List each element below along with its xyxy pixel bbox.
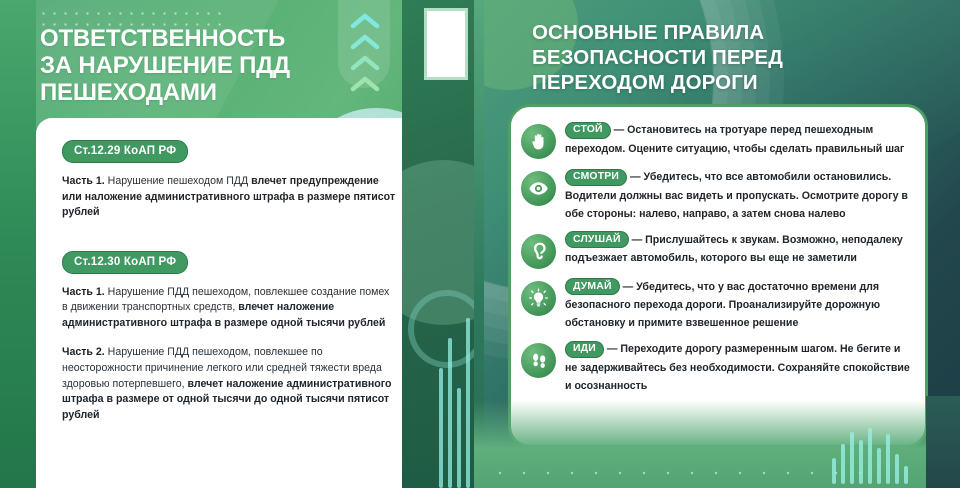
white-notch-decoration [424,8,468,80]
rule-item: СТОЙ — Остановитесь на тротуаре перед пе… [521,119,911,159]
ear-glyph [529,241,549,261]
left-title-line-3: ПЕШЕХОДАМИ [40,80,340,107]
article-block-2: Ст.12.30 КоАП РФ Часть 1. Нарушение ПДД … [62,251,396,424]
left-panel-title: ОТВЕТСТВЕННОСТЬ ЗА НАРУШЕНИЕ ПДД ПЕШЕХОД… [40,26,340,107]
vertical-bars-decoration [439,318,470,488]
rule-paragraph: СТОЙ — Остановитесь на тротуаре перед пе… [565,120,911,157]
part-label: Часть 2. [62,346,105,358]
left-panel: ОТВЕТСТВЕННОСТЬ ЗА НАРУШЕНИЕ ПДД ПЕШЕХОД… [0,0,474,488]
rule-keyword-badge: СТОЙ [565,122,611,139]
rule-description: — Переходите дорогу размеренным шагом. Н… [565,343,910,392]
left-content-card: Ст.12.29 КоАП РФ Часть 1. Нарушение пеше… [36,118,422,488]
rule-item: СМОТРИ — Убедитесь, что все автомобили о… [521,166,911,222]
article-2-paragraph-1: Часть 1. Нарушение ПДД пешеходом, повлек… [62,285,396,332]
eye-icon [521,171,556,206]
rule-paragraph: ИДИ — Переходите дорогу размеренным шаго… [565,339,911,394]
rule-item: СЛУШАЙ — Прислушайтесь к звукам. Возможн… [521,229,911,269]
part-normal-text: Нарушение пешеходом ПДД [105,175,251,187]
rule-body: СТОЙ — Остановитесь на тротуаре перед пе… [565,119,911,157]
rule-description: — Остановитесь на тротуаре перед пешеход… [565,124,904,155]
rule-item: ИДИ — Переходите дорогу размеренным шаго… [521,338,911,394]
chevron-up-icon [350,54,380,72]
chevron-up-icon [350,75,380,93]
rule-body: СЛУШАЙ — Прислушайтесь к звукам. Возможн… [565,229,911,267]
article-1-paragraph-1: Часть 1. Нарушение пешеходом ПДД влечет … [62,174,396,221]
eye-glyph [528,178,549,199]
right-title-line-1: ОСНОВНЫЕ ПРАВИЛА [532,20,912,45]
lightbulb-glyph [528,288,549,309]
left-title-line-1: ОТВЕТСТВЕННОСТЬ [40,26,340,53]
safety-rules-list: СТОЙ — Остановитесь на тротуаре перед пе… [521,119,911,394]
bottom-vertical-bars-decoration [832,428,908,484]
right-title-line-3: ПЕРЕХОДОМ ДОРОГИ [532,70,912,95]
part-normal-text: Нарушение ПДД пешеходом, повлекшее созда… [62,286,389,314]
rule-paragraph: СЛУШАЙ — Прислушайтесь к звукам. Возможн… [565,230,911,267]
right-panel: ОСНОВНЫЕ ПРАВИЛА БЕЗОПАСНОСТИ ПЕРЕД ПЕРЕ… [474,0,960,488]
ear-icon [521,234,556,269]
rule-body: ИДИ — Переходите дорогу размеренным шаго… [565,338,911,394]
bottom-dot-pattern [488,465,878,481]
rule-item: ДУМАЙ — Убедитесь, что у вас достаточно … [521,276,911,332]
lightbulb-icon [521,281,556,316]
footprints-glyph [529,351,549,371]
article-badge-2: Ст.12.30 КоАП РФ [62,251,188,274]
chevron-up-icon [350,33,380,51]
right-title-line-2: БЕЗОПАСНОСТИ ПЕРЕД [532,45,912,70]
chevron-up-icon [350,12,380,30]
article-badge-1: Ст.12.29 КоАП РФ [62,140,188,163]
part-label: Часть 1. [62,286,105,298]
rule-body: ДУМАЙ — Убедитесь, что у вас достаточно … [565,276,911,332]
left-edge-strip [0,0,36,488]
rule-paragraph: ДУМАЙ — Убедитесь, что у вас достаточно … [565,277,911,332]
rule-keyword-badge: ДУМАЙ [565,278,620,295]
infographic-page: ОТВЕТСТВЕННОСТЬ ЗА НАРУШЕНИЕ ПДД ПЕШЕХОД… [0,0,960,497]
article-2-paragraph-2: Часть 2. Нарушение ПДД пешеходом, повлек… [62,345,396,423]
footprints-icon [521,343,556,378]
hand-stop-glyph [529,132,549,152]
right-content-card: СТОЙ — Остановитесь на тротуаре перед пе… [508,104,928,448]
rule-keyword-badge: СЛУШАЙ [565,231,629,248]
left-panel-right-decoration-strip [402,0,474,488]
chevron-stack [350,12,380,93]
rule-keyword-badge: СМОТРИ [565,169,627,186]
hand-stop-icon [521,124,556,159]
part-label: Часть 1. [62,175,105,187]
rule-keyword-badge: ИДИ [565,341,604,358]
right-panel-title: ОСНОВНЫЕ ПРАВИЛА БЕЗОПАСНОСТИ ПЕРЕД ПЕРЕ… [532,20,912,95]
rule-body: СМОТРИ — Убедитесь, что все автомобили о… [565,166,911,222]
left-title-line-2: ЗА НАРУШЕНИЕ ПДД [40,53,340,80]
rule-paragraph: СМОТРИ — Убедитесь, что все автомобили о… [565,167,911,222]
bottom-right-corner-decoration [926,396,960,488]
